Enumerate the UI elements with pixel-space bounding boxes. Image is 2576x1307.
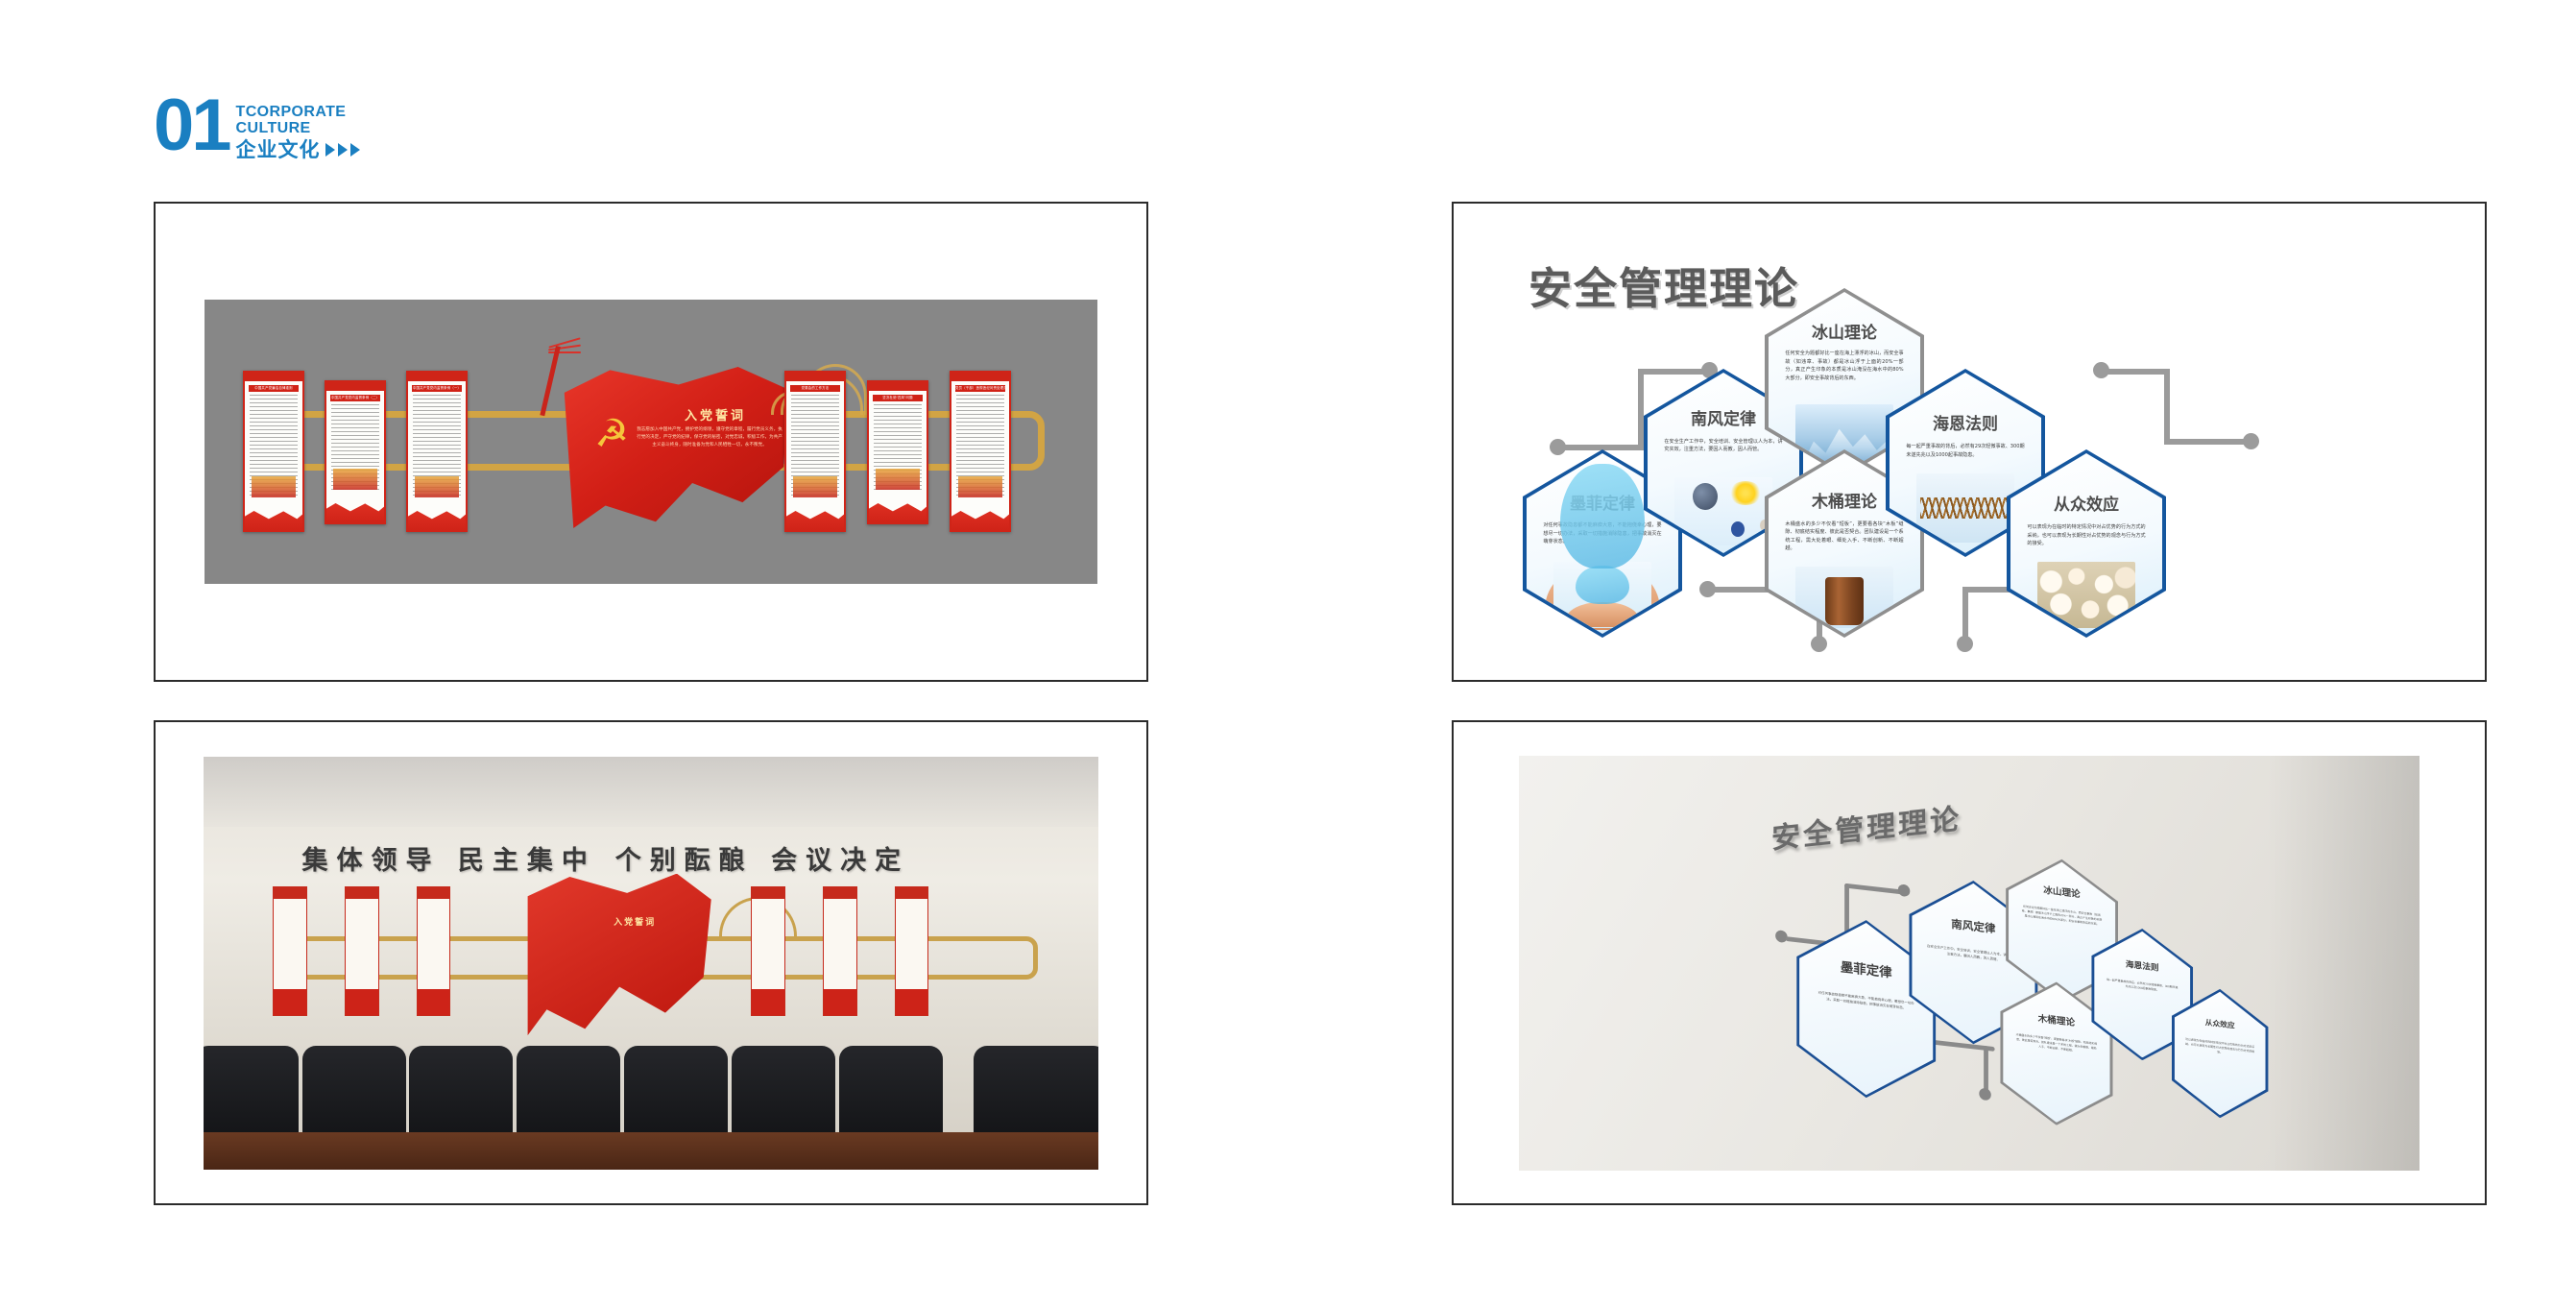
hex-heinrich-desc: 每一起严重事故的背后，必然有29次轻微事故、300期未遂先兆以及1000起事故隐…	[1906, 443, 2024, 459]
party-banner-2: 中国共产党党内监督条例（二）	[325, 380, 386, 524]
photo-banner-4	[751, 886, 785, 1015]
party-banner-3-title: 中国共产党党内监督条例（一）	[412, 385, 462, 392]
presentation-stage: 01 TCORPORATE CULTURE 企业文化 中国共产党廉洁自律准则 中…	[0, 0, 2576, 1307]
party-banner-4-image	[793, 476, 837, 497]
party-oath-title: 入党誓词	[648, 405, 782, 424]
photo-hex-iceberg-desc: 任何安全为题都好比一座在海上漂浮的冰山，而安全事故（如违章、事故）都是冰山浮于上…	[2021, 904, 2103, 927]
hands-holding-bag-icon	[1553, 562, 1650, 629]
safety-wall-title: 安全管理理论	[1529, 254, 1799, 316]
photo-hex-barrel-desc: 木桶盛水的多少不仅看“短板”，更要看各块“木板”缝隙、彻底结实程度、彼此是否契合…	[2015, 1032, 2097, 1055]
party-wall-photograph: 集体领导 民主集中 个别酝酿 会议决定 入党誓词	[204, 757, 1098, 1170]
wind-sun-coat-icon	[1674, 477, 1771, 545]
connector-rod-9	[2164, 369, 2170, 445]
photo-knob-2	[1898, 883, 1910, 897]
party-banner-6-image	[958, 476, 1002, 497]
connector-rod-6	[1962, 587, 1968, 642]
party-banner-4: 党委会的工作方法	[784, 371, 846, 532]
connector-rod-8	[2099, 369, 2170, 375]
connector-knob-mid-c	[1957, 636, 1973, 652]
party-banner-1: 中国共产党廉洁自律准则	[243, 371, 304, 532]
party-wall-artwork: 中国共产党廉洁自律准则 中国共产党党内监督条例（二） 中国共产党党内监督条例（一…	[205, 300, 1097, 584]
photo-banner-1	[273, 886, 307, 1015]
photo-banner-6	[895, 886, 929, 1015]
photo-knob-4	[1979, 1087, 1990, 1101]
party-banner-4-title: 党委会的工作方法	[790, 385, 840, 392]
section-title-cn-row: 企业文化	[236, 140, 360, 160]
panel-party-wall-design[interactable]: 中国共产党廉洁自律准则 中国共产党党内监督条例（二） 中国共产党党内监督条例（一…	[154, 202, 1148, 682]
hammer-sickle-icon: ☭	[590, 413, 633, 455]
photo-hex-conformity-title: 从众效应	[2175, 1013, 2266, 1033]
party-banner-6-title: 党员（干部）违规违纪问责处理办法	[955, 385, 1005, 392]
safety-wall-artwork: 安全管理理论 墨菲定律 对任何事故隐患	[1454, 204, 2485, 680]
photo-red-flag: 入党誓词	[520, 874, 711, 1036]
panel-safety-wall-photo[interactable]: 安全管理理论 墨菲定律 对任何事故隐患都不能麻痹大意，不能抱侥幸心理，要想尽一	[1452, 720, 2487, 1205]
photo-banner-2	[345, 886, 379, 1015]
connector-rod-3	[1638, 369, 1709, 375]
party-flag-graphic: ☭ 入党誓词 我志愿加入中国共产党，拥护党的纲领，遵守党的章程，履行党员义务，执…	[542, 346, 792, 543]
photo-slogan-right: 个别酝酿 会议决定	[615, 839, 909, 877]
photo-hex-heinrich-title: 海恩法则	[2094, 954, 2190, 977]
section-title-block: TCORPORATE CULTURE 企业文化	[236, 96, 360, 160]
conference-table	[204, 1132, 1098, 1170]
red-flag-shape: ☭ 入党誓词 我志愿加入中国共产党，拥护党的纲领，遵守党的章程，履行党员义务，执…	[560, 367, 788, 528]
triple-arrow-icon	[325, 143, 360, 157]
party-banner-1-image	[252, 476, 296, 497]
mounted-hex-group: 墨菲定律 对任何事故隐患都不能麻痹大意，不能抱侥幸心理，要想尽一切办法，采取一切…	[1765, 822, 2300, 1170]
crowd-of-sheep-icon	[2037, 562, 2134, 629]
party-banner-1-title: 中国共产党廉洁自律准则	[249, 385, 299, 392]
hex-heinrich-title: 海恩法则	[1890, 410, 2041, 434]
connector-knob-right-b	[2243, 433, 2259, 449]
party-banner-3: 中国共产党党内监督条例（一）	[406, 371, 468, 532]
party-banner-3-image	[415, 476, 459, 497]
photo-hex-iceberg-title: 冰山理论	[2009, 878, 2115, 904]
section-number: 01	[154, 96, 229, 156]
hex-barrel-desc: 木桶盛水的多少不仅看“短板”，更要看各块“木板”缝隙、彻底结实程度、彼此是否契合…	[1785, 520, 1903, 553]
section-header-logo: 01 TCORPORATE CULTURE 企业文化	[154, 96, 360, 160]
photo-hex-conformity-desc: 可以表现为在临时的特定情况中对占优势的行为方式的采纳，也可以表现为长期性对占优势…	[2185, 1037, 2254, 1059]
section-title-en-line2: CULTURE	[236, 120, 360, 136]
party-banner-5-image	[876, 469, 920, 490]
connector-rod-10	[2164, 439, 2251, 445]
panel-safety-wall-design[interactable]: 安全管理理论 墨菲定律 对任何事故隐患	[1452, 202, 2487, 682]
photo-rod-3	[1844, 883, 1903, 894]
party-banner-6: 党员（干部）违规违纪问责处理办法	[950, 371, 1011, 532]
connector-rod-2	[1638, 369, 1644, 450]
connector-rod-1	[1557, 445, 1644, 450]
hex-south-wind-desc: 在安全生产工作中，安全培训、安全管理以人为本，讲究实效，注重方法，要因人而教，因…	[1664, 438, 1782, 454]
photo-hex-heinrich-desc: 每一起严重事故的背后，必然有29次轻微事故、300期未遂先兆以及1000起事故隐…	[2106, 978, 2179, 995]
photo-banner-3	[417, 886, 451, 1015]
section-title-cn: 企业文化	[236, 140, 321, 160]
photo-rod-5	[1984, 1045, 1988, 1091]
party-banner-5: 坚决杜绝“四风”问题	[867, 380, 928, 524]
party-banner-5-title: 坚决杜绝“四风”问题	[873, 395, 923, 401]
photo-hex-murphy-desc: 对任何事故隐患都不能麻痹大意，不能抱侥幸心理，要想尽一切办法，采取一切措施消除隐…	[1816, 989, 1917, 1012]
party-banner-2-title: 中国共产党党内监督条例（二）	[330, 395, 380, 401]
connector-knob-mid-b	[1811, 636, 1827, 652]
wooden-bucket-icon	[1795, 567, 1892, 628]
hex-conformity-desc: 可以表现为在临时的特定情况中对占优势的行为方式的采纳，也可以表现为长期性对占优势…	[2027, 523, 2145, 548]
hex-iceberg-title: 冰山理论	[1769, 319, 1920, 343]
mounted-party-wall-art: 入党誓词	[257, 881, 1054, 1046]
section-title-en-line1: TCORPORATE	[236, 104, 360, 120]
hex-conformity-title: 从众效应	[2010, 491, 2162, 515]
meeting-room-ceiling	[204, 757, 1098, 827]
photo-oath-title: 入党誓词	[614, 915, 656, 928]
panel-party-wall-photo[interactable]: 集体领导 民主集中 个别酝酿 会议决定 入党誓词	[154, 720, 1148, 1205]
safety-wall-photograph: 安全管理理论 墨菲定律 对任何事故隐患都不能麻痹大意，不能抱侥幸心理，要想尽一	[1519, 756, 2420, 1171]
photo-knob-1	[1775, 930, 1787, 943]
photo-slogan-left: 集体领导 民主集中	[302, 839, 596, 877]
party-oath-body: 我志愿加入中国共产党，拥护党的纲领，遵守党的章程，履行党员义务，执行党的决定，严…	[637, 426, 782, 449]
hex-iceberg-desc: 任何安全为题都好比一座在海上漂浮的冰山，而安全事故（如违章、事故）都是冰山浮于上…	[1785, 350, 1903, 382]
party-banner-2-image	[333, 469, 377, 490]
hex-murphy-desc: 对任何事故隐患都不能麻痹大意，不能抱侥幸心理，要想尽一切办法，采取一切措施消除隐…	[1543, 521, 1661, 546]
broken-rope-icon	[1916, 473, 2013, 542]
photo-banner-5	[823, 886, 857, 1015]
